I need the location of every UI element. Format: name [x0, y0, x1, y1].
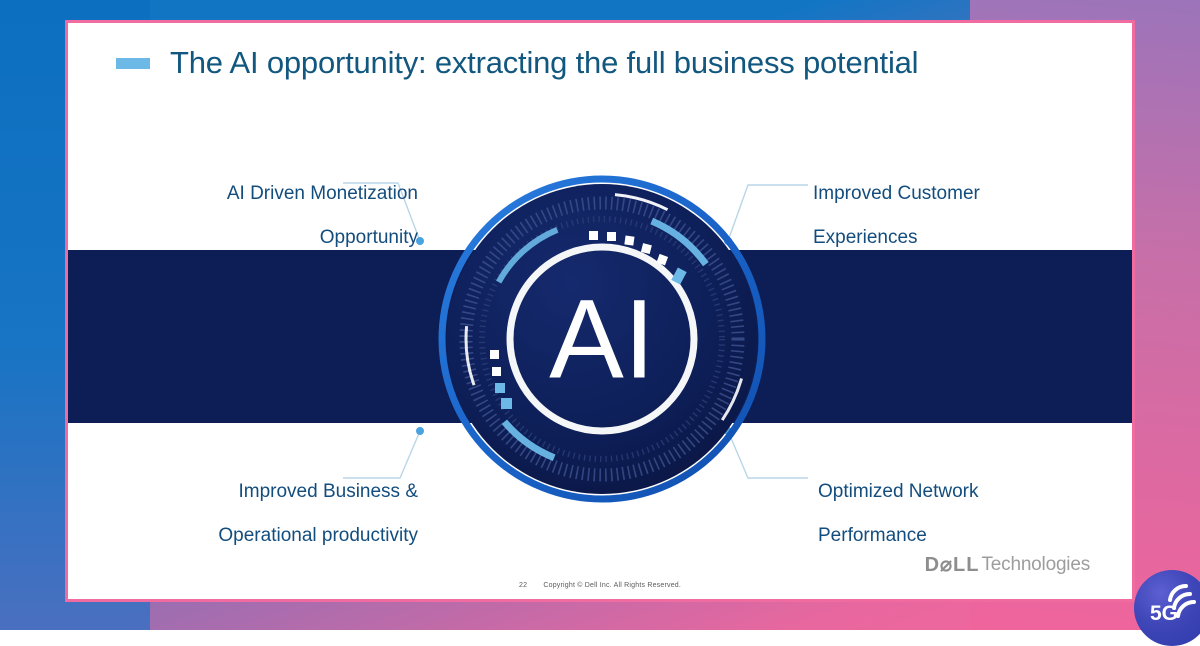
- dell-technologies-logo: D⌀LL Technologies: [925, 552, 1090, 577]
- copyright-notice: Copyright © Dell Inc. All Rights Reserve…: [543, 582, 681, 589]
- five-g-watermark-icon: 5G: [1134, 570, 1200, 646]
- callout-top-left: AI Driven Monetization Opportunity: [128, 161, 418, 270]
- callout-bottom-left: Improved Business & Operational producti…: [118, 459, 418, 568]
- callout-top-right-line2: Experiences: [813, 227, 1113, 249]
- callout-top-left-line1: AI Driven Monetization: [128, 183, 418, 205]
- slide-frame: The AI opportunity: extracting the full …: [65, 20, 1135, 602]
- dell-technologies-suffix: Technologies: [981, 554, 1090, 576]
- ai-circle-graphic: AI: [437, 174, 767, 504]
- page-number: 22: [519, 582, 527, 589]
- callout-bottom-right-line1: Optimized Network: [818, 481, 1118, 503]
- callout-bottom-left-line2: Operational productivity: [118, 525, 418, 547]
- callout-top-left-line2: Opportunity: [128, 227, 418, 249]
- slide-footer: 22 Copyright © Dell Inc. All Rights Rese…: [68, 582, 1132, 589]
- callout-bottom-left-line1: Improved Business &: [118, 481, 418, 503]
- ai-label: AI: [549, 277, 655, 402]
- slide-canvas: The AI opportunity: extracting the full …: [68, 23, 1132, 599]
- callout-top-right-line1: Improved Customer: [813, 183, 1113, 205]
- callout-top-right: Improved Customer Experiences: [813, 161, 1113, 270]
- dell-wordmark: D⌀LL: [925, 552, 980, 577]
- callout-bottom-right-line2: Performance: [818, 525, 1118, 547]
- svg-text:5G: 5G: [1150, 602, 1178, 625]
